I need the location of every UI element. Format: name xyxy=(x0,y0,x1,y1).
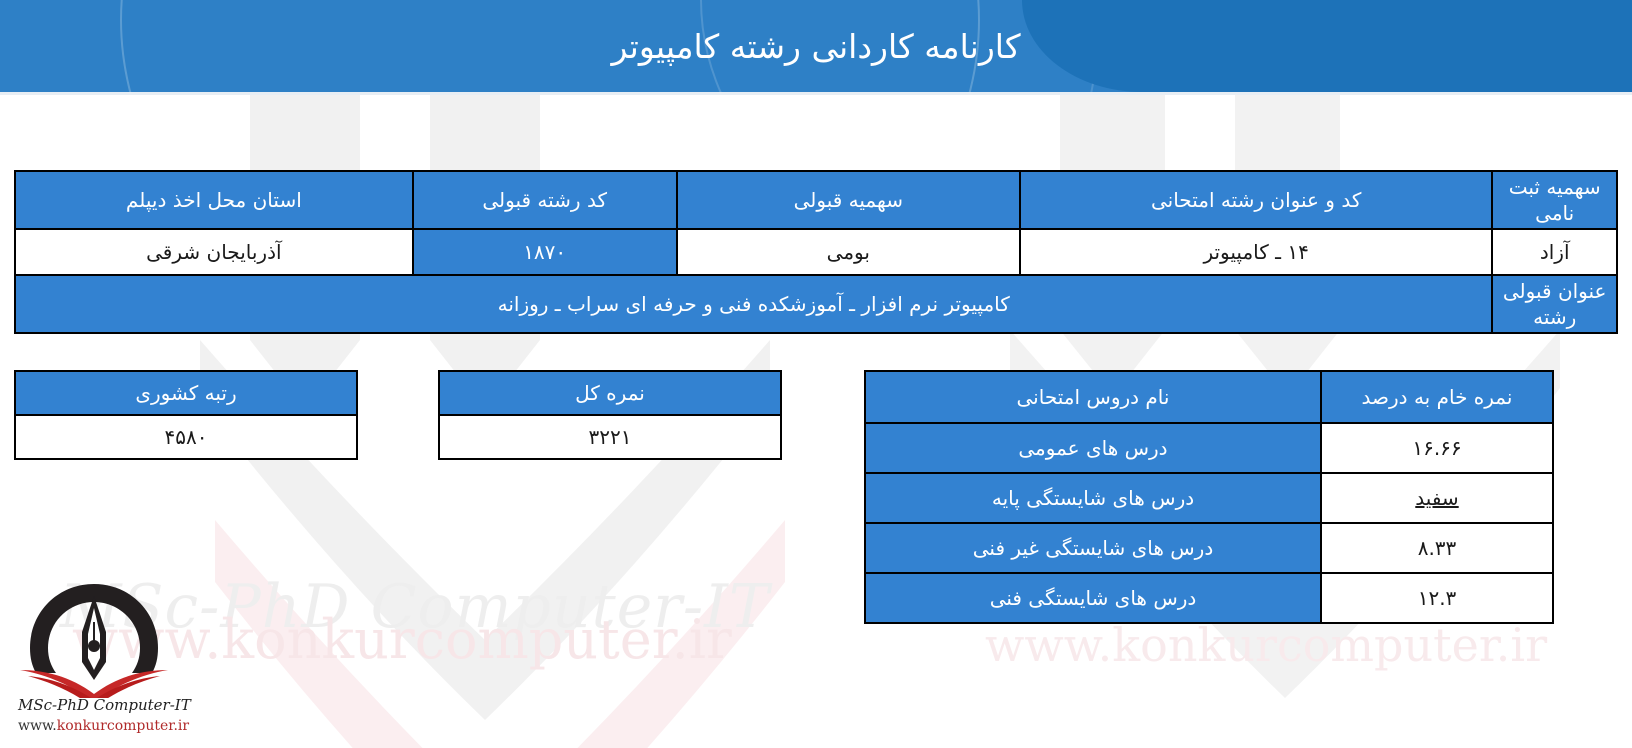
table-row-headers: سهمیه ثبت نامی کد و عنوان رشته امتحانی س… xyxy=(15,171,1617,229)
banner-underline xyxy=(0,92,1632,95)
value-registration-quota: آزاد xyxy=(1492,229,1617,275)
table-row: سفید درس های شایستگی پایه xyxy=(865,473,1553,523)
table-row: رتبه کشوری xyxy=(15,371,357,415)
total-score-table: نمره کل ۳۲۲۱ xyxy=(438,370,782,460)
value-admitted-major: کامپیوتر نرم افزار ـ آموزشکده فنی و حرفه… xyxy=(15,275,1492,333)
value-raw-score-3: ۱۲.۳ xyxy=(1321,573,1553,623)
value-course-name-3: درس های شایستگی فنی xyxy=(865,573,1321,623)
value-raw-score-0: ۱۶.۶۶ xyxy=(1321,423,1553,473)
brand-logo: MSc-PhD Computer-IT www.konkurcomputer.i… xyxy=(14,578,174,746)
table-row: ۴۵۸۰ xyxy=(15,415,357,459)
value-raw-score-2: ۸.۳۳ xyxy=(1321,523,1553,573)
value-diploma-province: آذربایجان شرقی xyxy=(15,229,413,275)
col-header-registration-quota: سهمیه ثبت نامی xyxy=(1492,171,1617,229)
transcript-page: کارنامه کاردانی رشته کامپیوتر سهمیه ثبت … xyxy=(0,0,1632,748)
table-row: ۱۶.۶۶ درس های عمومی xyxy=(865,423,1553,473)
col-header-national-rank: رتبه کشوری xyxy=(15,371,357,415)
logo-url-domain: konkurcomputer.ir xyxy=(57,718,189,734)
table-row: نمره کل xyxy=(439,371,781,415)
table-row-major: عنوان قبولی رشته کامپیوتر نرم افزار ـ آم… xyxy=(15,275,1617,333)
logo-caption-url: www.konkurcomputer.ir xyxy=(18,718,189,734)
value-exam-field: ۱۴ ـ کامپیوتر xyxy=(1020,229,1492,275)
table-row: ۱۲.۳ درس های شایستگی فنی xyxy=(865,573,1553,623)
table-row: ۸.۳۳ درس های شایستگی غیر فنی xyxy=(865,523,1553,573)
header-banner: کارنامه کاردانی رشته کامپیوتر xyxy=(0,0,1632,92)
pen-nib-book-logo-icon xyxy=(14,578,174,698)
value-course-name-0: درس های عمومی xyxy=(865,423,1321,473)
national-rank-table: رتبه کشوری ۴۵۸۰ xyxy=(14,370,358,460)
label-admitted-major: عنوان قبولی رشته xyxy=(1492,275,1617,333)
col-header-admitted-field-code: کد رشته قبولی xyxy=(413,171,677,229)
value-admitted-field-code: ۱۸۷۰ xyxy=(413,229,677,275)
col-header-diploma-province: استان محل اخذ دیپلم xyxy=(15,171,413,229)
table-row-values: آزاد ۱۴ ـ کامپیوتر بومی ۱۸۷۰ آذربایجان ش… xyxy=(15,229,1617,275)
value-raw-score-1: سفید xyxy=(1321,473,1553,523)
value-course-name-2: درس های شایستگی غیر فنی xyxy=(865,523,1321,573)
admission-info-table: سهمیه ثبت نامی کد و عنوان رشته امتحانی س… xyxy=(14,170,1618,334)
value-total-score: ۳۲۲۱ xyxy=(439,415,781,459)
course-scores-table: نمره خام به درصد نام دروس امتحانی ۱۶.۶۶ … xyxy=(864,370,1554,624)
table-row: ۳۲۲۱ xyxy=(439,415,781,459)
page-title: کارنامه کاردانی رشته کامپیوتر xyxy=(0,0,1632,92)
logo-caption-name: MSc-PhD Computer-IT xyxy=(18,696,191,714)
col-header-raw-score-percent: نمره خام به درصد xyxy=(1321,371,1553,423)
value-national-rank: ۴۵۸۰ xyxy=(15,415,357,459)
col-header-course-name: نام دروس امتحانی xyxy=(865,371,1321,423)
value-course-name-1: درس های شایستگی پایه xyxy=(865,473,1321,523)
col-header-total-score: نمره کل xyxy=(439,371,781,415)
value-admission-quota: بومی xyxy=(677,229,1020,275)
col-header-admission-quota: سهمیه قبولی xyxy=(677,171,1020,229)
watermark-url-right: www.konkurcomputer.ir xyxy=(985,618,1547,672)
logo-url-prefix: www. xyxy=(18,718,57,734)
table-row-headers: نمره خام به درصد نام دروس امتحانی xyxy=(865,371,1553,423)
col-header-exam-field: کد و عنوان رشته امتحانی xyxy=(1020,171,1492,229)
